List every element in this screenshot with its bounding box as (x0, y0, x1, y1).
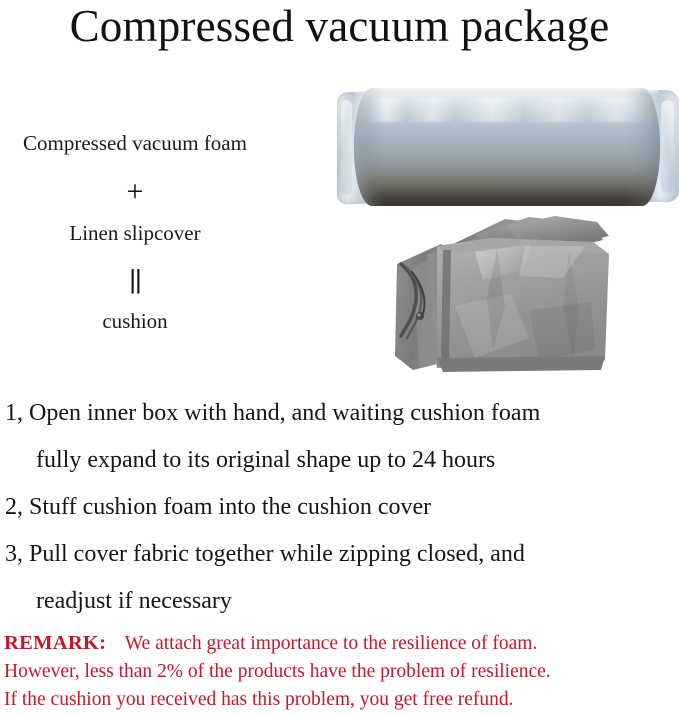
fabric-crease-4 (529, 302, 595, 360)
equation-term-foam: Compressed vacuum foam (4, 128, 266, 158)
list-item: 3, Pull cover fabric together while zipp… (5, 531, 665, 625)
vacuum-roll-photo (337, 88, 679, 206)
zipper-pull-hole-icon (417, 313, 420, 316)
slipcover-photo (379, 210, 631, 378)
equation-term-slipcover: Linen slipcover (4, 218, 266, 248)
foam-roll-body (354, 88, 660, 206)
list-item: 2, Stuff cushion foam into the cushion c… (5, 484, 665, 531)
step-3-line-1: 3, Pull cover fabric together while zipp… (5, 541, 525, 567)
product-instruction-card: Compressed vacuum package Compressed vac… (0, 0, 679, 717)
equation-result-cushion: cushion (4, 306, 266, 336)
step-1-line-2: fully expand to its original shape up to… (5, 437, 665, 484)
fabric-bottom-edge (437, 356, 605, 372)
remark-line-1: We attach great importance to the resili… (125, 633, 538, 654)
plus-icon: + (4, 172, 266, 212)
list-item: 1, Open inner box with hand, and waiting… (5, 390, 665, 484)
foam-roll-right-cap (626, 88, 660, 206)
equals-icon: || (4, 258, 266, 300)
instruction-list: 1, Open inner box with hand, and waiting… (5, 390, 665, 625)
folded-fabric-illustration (379, 210, 631, 378)
step-1-line-1: 1, Open inner box with hand, and waiting… (5, 400, 540, 426)
remark-block: REMARK: We attach great importance to th… (4, 629, 676, 714)
step-2-line-1: 2, Stuff cushion foam into the cushion c… (5, 494, 431, 520)
composition-equation: Compressed vacuum foam + Linen slipcover… (4, 128, 266, 336)
remark-line-3: If the cushion you received has this pro… (4, 686, 676, 714)
remark-line-2: However, less than 2% of the products ha… (4, 658, 676, 686)
step-3-line-2: readjust if necessary (5, 578, 665, 625)
foam-roll-left-cap (354, 88, 384, 206)
remark-first-line: REMARK: We attach great importance to th… (4, 629, 676, 658)
page-title: Compressed vacuum package (0, 0, 679, 54)
remark-keyword: REMARK: (4, 632, 106, 654)
